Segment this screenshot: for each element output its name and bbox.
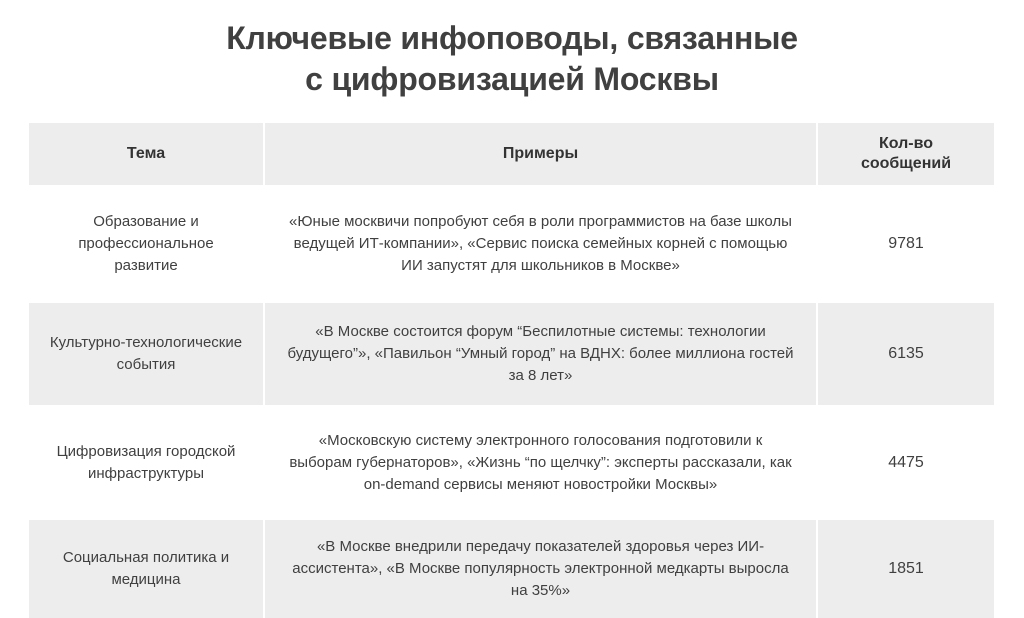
- column-header-examples: Примеры: [265, 123, 818, 185]
- cell-count: 9781: [818, 185, 994, 303]
- cell-theme: Культурно-технологические события: [29, 303, 265, 405]
- column-header-theme: Тема: [29, 123, 265, 185]
- cell-theme: Цифровизация городской инфраструктуры: [29, 405, 265, 520]
- table-row: Социальная политика и медицина «В Москве…: [29, 520, 994, 618]
- table-row: Культурно-технологические события «В Мос…: [29, 303, 994, 405]
- cell-examples: «В Москве состоится форум “Беспилотные с…: [265, 303, 818, 405]
- cell-examples: «В Москве внедрили передачу показателей …: [265, 520, 818, 618]
- cell-examples: «Московскую систему электронного голосов…: [265, 405, 818, 520]
- table-header-row: Тема Примеры Кол-во сообщений: [29, 123, 994, 185]
- column-header-count-line-1: Кол-во: [879, 135, 933, 152]
- page-title: Ключевые инфоповоды, связанные с цифрови…: [0, 18, 1024, 100]
- table-header: Тема Примеры Кол-во сообщений: [29, 123, 994, 185]
- key-news-table: Тема Примеры Кол-во сообщений Образовани…: [29, 123, 994, 618]
- cell-count: 4475: [818, 405, 994, 520]
- key-news-table-wrapper: Тема Примеры Кол-во сообщений Образовани…: [29, 123, 994, 618]
- cell-examples: «Юные москвичи попробуют себя в роли про…: [265, 185, 818, 303]
- page-title-line-1: Ключевые инфоповоды, связанные: [0, 18, 1024, 59]
- column-header-count: Кол-во сообщений: [818, 123, 994, 185]
- cell-count: 1851: [818, 520, 994, 618]
- page-title-line-2: с цифровизацией Москвы: [0, 59, 1024, 100]
- table-body: Образование и профессиональное развитие …: [29, 185, 994, 618]
- table-row: Образование и профессиональное развитие …: [29, 185, 994, 303]
- cell-count: 6135: [818, 303, 994, 405]
- column-header-count-line-2: сообщений: [861, 155, 951, 172]
- slide-root: Ключевые инфоповоды, связанные с цифрови…: [0, 0, 1024, 588]
- table-row: Цифровизация городской инфраструктуры «М…: [29, 405, 994, 520]
- cell-theme: Образование и профессиональное развитие: [29, 185, 265, 303]
- cell-theme: Социальная политика и медицина: [29, 520, 265, 618]
